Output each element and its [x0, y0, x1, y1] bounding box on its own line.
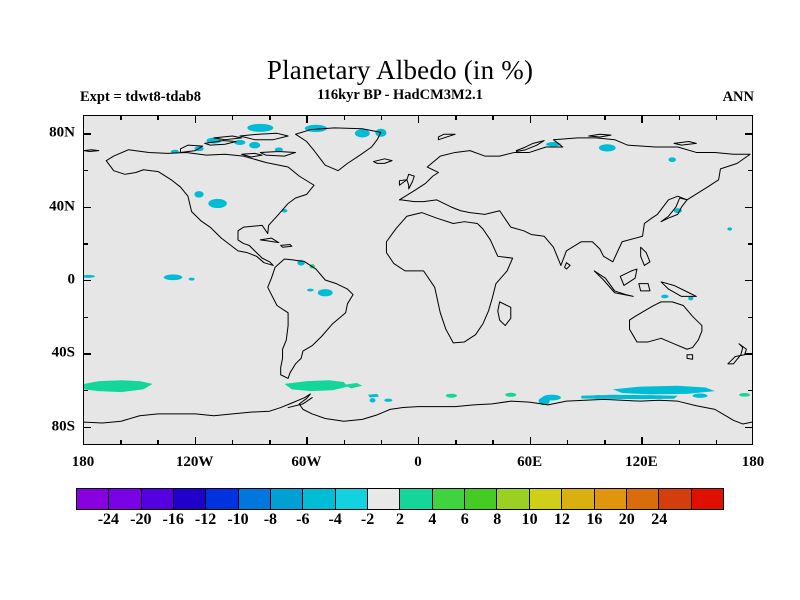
y-axis-label: 40S	[25, 345, 75, 362]
colorbar-cell	[173, 489, 205, 509]
coastline	[399, 180, 406, 185]
x-tick-bottom	[455, 440, 456, 445]
colorbar-tick-label: -8	[264, 511, 277, 529]
x-tick-bottom	[232, 440, 233, 445]
colorbar-cell	[399, 489, 431, 509]
colorbar-tick-label: -2	[361, 511, 374, 529]
x-tick-top	[567, 115, 568, 120]
colorbar-tick-label: 16	[586, 511, 602, 529]
experiment-label: Expt = tdwt8-tdab8	[80, 89, 201, 106]
anomaly-patch	[189, 278, 195, 281]
x-tick-bottom	[157, 440, 158, 445]
colorbar-tick-label: 6	[461, 511, 469, 529]
x-tick-bottom	[530, 437, 531, 445]
coastline	[373, 159, 392, 164]
coastline	[661, 198, 687, 222]
colorbar-cell	[270, 489, 302, 509]
x-axis-label: 60E	[517, 454, 542, 471]
colorbar-cell	[238, 489, 270, 509]
y-axis-label: 40N	[25, 198, 75, 215]
anomaly-patch	[344, 383, 363, 388]
world-map-plot	[83, 115, 753, 445]
coastline	[260, 238, 279, 243]
colorbar-tick-label: 2	[396, 511, 404, 529]
y-axis-label: 80S	[25, 418, 75, 435]
colorbar-cell	[529, 489, 561, 509]
colorbar-tick-label: 4	[428, 511, 436, 529]
coastline	[639, 284, 650, 291]
anomaly-patch	[599, 144, 616, 151]
anomaly-patch	[284, 380, 347, 391]
y-tick-right	[745, 133, 753, 134]
y-axis-label: 0	[25, 272, 75, 289]
coastline	[641, 247, 650, 265]
x-tick-bottom	[120, 440, 121, 445]
x-tick-bottom	[306, 437, 307, 445]
colorbar-cell	[691, 489, 723, 509]
coastline	[589, 134, 611, 137]
x-tick-bottom	[716, 440, 717, 445]
colorbar-cell	[432, 489, 464, 509]
anomaly-patch	[247, 124, 273, 132]
colorbar-tick-label: -4	[329, 511, 342, 529]
colorbar-tick-label: 8	[493, 511, 501, 529]
x-tick-top	[120, 115, 121, 120]
coastline	[661, 282, 696, 297]
anomaly-patch	[249, 142, 260, 149]
x-tick-bottom	[195, 437, 196, 445]
colorbar-tick-label: 20	[619, 511, 635, 529]
figure-title: Planetary Albedo (in %)	[0, 55, 800, 86]
coastline	[516, 141, 544, 152]
y-tick-left	[83, 353, 91, 354]
colorbar-labels: -24-20-16-12-10-8-6-4-224681012162024	[76, 511, 724, 533]
x-axis-label: 120E	[625, 454, 658, 471]
anomaly-patch	[194, 191, 203, 198]
anomaly-patch	[84, 380, 153, 392]
coastline	[260, 152, 295, 157]
anomaly-patch	[355, 129, 370, 137]
x-tick-top	[641, 115, 642, 123]
colorbar-tick-label: -10	[227, 511, 248, 529]
coastline-layer	[84, 128, 752, 424]
coastline	[498, 302, 511, 326]
colorbar-cell	[108, 489, 140, 509]
anomaly-patch	[613, 386, 715, 395]
y-tick-left	[83, 133, 91, 134]
x-tick-top	[269, 115, 270, 120]
colorbar-tick-label: -24	[98, 511, 119, 529]
x-axis-label: 120W	[176, 454, 214, 471]
anomaly-patch	[592, 395, 603, 399]
x-tick-top	[306, 115, 307, 123]
coastline	[674, 142, 696, 146]
colorbar-cell	[658, 489, 690, 509]
x-tick-top	[232, 115, 233, 120]
anomaly-patch	[693, 394, 708, 398]
colorbar-tick-label: -6	[296, 511, 309, 529]
anomaly-patch	[234, 140, 245, 145]
colorbar-tick-label: -12	[195, 511, 216, 529]
coastline	[84, 150, 99, 152]
y-tick-left	[83, 390, 88, 391]
y-tick-left	[83, 243, 88, 244]
y-tick-right	[748, 390, 753, 391]
x-axis-label: 180	[742, 454, 765, 471]
anomaly-patch	[164, 274, 183, 280]
coastline	[268, 259, 353, 378]
map-svg	[84, 116, 752, 444]
y-tick-right	[745, 207, 753, 208]
colorbar-tick-label: -16	[163, 511, 184, 529]
anomaly-patch	[208, 199, 227, 208]
x-tick-bottom	[492, 440, 493, 445]
colorbar-cell	[205, 489, 237, 509]
colorbar-cell	[141, 489, 173, 509]
x-tick-bottom	[567, 440, 568, 445]
colorbar-tick-label: 24	[651, 511, 667, 529]
x-tick-top	[716, 115, 717, 120]
y-tick-right	[745, 353, 753, 354]
x-tick-top	[157, 115, 158, 120]
colorbar-cell	[302, 489, 334, 509]
colorbar-tick-label: 10	[522, 511, 538, 529]
colorbar-cell	[335, 489, 367, 509]
y-tick-left	[83, 170, 88, 171]
x-tick-top	[679, 115, 680, 120]
x-tick-bottom	[269, 440, 270, 445]
coastline	[438, 134, 455, 139]
x-axis-label: 60W	[291, 454, 321, 471]
x-tick-bottom	[344, 440, 345, 445]
y-tick-right	[748, 170, 753, 171]
colorbar-cell	[77, 489, 108, 509]
x-tick-top	[418, 115, 419, 123]
colorbar-cell	[626, 489, 658, 509]
anomaly-patch	[368, 394, 379, 398]
anomaly-patch	[370, 398, 376, 402]
anomaly-patch	[505, 393, 516, 397]
coastline	[399, 138, 750, 266]
y-tick-right	[748, 317, 753, 318]
x-tick-top	[381, 115, 382, 120]
colorbar-tick-label: -20	[130, 511, 151, 529]
anomaly-patch	[307, 289, 314, 292]
y-tick-left	[83, 280, 91, 281]
x-tick-top	[344, 115, 345, 120]
colorbar-cell	[561, 489, 593, 509]
coastline	[687, 355, 693, 360]
x-tick-bottom	[679, 440, 680, 445]
coastline	[565, 263, 571, 269]
coastline	[386, 213, 512, 343]
y-tick-right	[748, 243, 753, 244]
x-tick-bottom	[641, 437, 642, 445]
anomaly-patch	[661, 295, 668, 299]
x-tick-bottom	[381, 440, 382, 445]
colorbar-cell	[367, 489, 399, 509]
colorbar-cell	[594, 489, 626, 509]
colorbar-tick-label: 12	[554, 511, 570, 529]
anomaly-patch	[446, 394, 457, 398]
y-tick-left	[83, 427, 91, 428]
x-tick-bottom	[418, 437, 419, 445]
y-tick-left	[83, 207, 91, 208]
x-tick-top	[455, 115, 456, 120]
anomaly-patch	[84, 275, 95, 278]
anomaly-patch	[318, 289, 333, 296]
x-tick-bottom	[604, 440, 605, 445]
coastline	[106, 150, 314, 266]
coastline	[620, 269, 637, 285]
x-tick-top	[530, 115, 531, 123]
albedo-map-figure: Planetary Albedo (in %) 116kyr BP - HadC…	[0, 0, 800, 600]
anomaly-patch	[669, 157, 676, 162]
anomaly-patch	[727, 227, 732, 230]
season-label: ANN	[723, 89, 754, 106]
y-axis-label: 80N	[25, 125, 75, 142]
coastline	[407, 174, 414, 189]
coastline	[728, 344, 747, 364]
colorbar	[76, 488, 724, 510]
coastline	[281, 244, 292, 247]
anomaly-patch	[739, 393, 750, 397]
anomaly-shading-layer	[84, 124, 752, 405]
coastline	[240, 133, 288, 139]
x-tick-top	[492, 115, 493, 120]
x-axis-label: 0	[414, 454, 422, 471]
colorbar-cell	[464, 489, 496, 509]
anomaly-patch	[384, 399, 392, 402]
y-tick-left	[83, 317, 88, 318]
colorbar-cell	[496, 489, 528, 509]
y-tick-right	[745, 427, 753, 428]
x-axis-label: 180	[72, 454, 95, 471]
x-tick-top	[195, 115, 196, 123]
x-tick-top	[604, 115, 605, 120]
coastline	[630, 302, 702, 349]
y-tick-right	[745, 280, 753, 281]
